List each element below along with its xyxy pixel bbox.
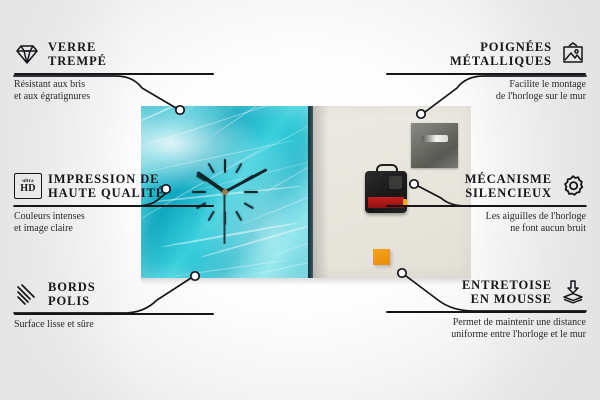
- callout-subtitle: Surface lisse et sûre: [14, 319, 214, 331]
- foam-spacer: [373, 249, 390, 265]
- panel-shadow: [313, 106, 329, 278]
- callout-title: ENTRETOISEEN MOUSSE: [462, 278, 552, 306]
- clock-second-hand: [224, 192, 226, 244]
- callout-subtitle: Les aiguilles de l'horlogene font aucun …: [386, 211, 586, 236]
- callout-impression: ultra HD IMPRESSION DEHAUTE QUALITÉ Coul…: [14, 172, 214, 235]
- callout-header: ENTRETOISEEN MOUSSE: [386, 278, 586, 306]
- callout-rule: [386, 73, 586, 75]
- callout-poignees: POIGNÉESMÉTALLIQUES Facilite le montaged…: [386, 40, 586, 103]
- callout-header: MÉCANISMESILENCIEUX: [386, 172, 586, 200]
- callout-entretoise: ENTRETOISEEN MOUSSE Permet de maintenir …: [386, 278, 586, 341]
- callout-rule: [14, 313, 214, 315]
- callout-header: VERRETREMPÉ: [14, 40, 214, 68]
- callout-header: BORDSPOLIS: [14, 280, 214, 308]
- callout-subtitle: Facilite le montagede l'horloge sur le m…: [386, 79, 586, 104]
- polished-edges-icon: [14, 281, 40, 307]
- callout-header: ultra HD IMPRESSION DEHAUTE QUALITÉ: [14, 172, 214, 200]
- callout-title: BORDSPOLIS: [48, 280, 96, 308]
- callout-subtitle: Couleurs intenseset image claire: [14, 211, 214, 236]
- clock-center-pin: [222, 189, 228, 195]
- callout-rule: [14, 73, 214, 75]
- callout-mecanisme: MÉCANISMESILENCIEUX Les aiguilles de l'h…: [386, 172, 586, 235]
- callout-title: VERRETREMPÉ: [48, 40, 107, 68]
- callout-title: IMPRESSION DEHAUTE QUALITÉ: [48, 172, 165, 200]
- metal-hanger-plate: [411, 123, 458, 168]
- callout-header: POIGNÉESMÉTALLIQUES: [386, 40, 586, 68]
- callout-subtitle: Permet de maintenir une distanceuniforme…: [386, 317, 586, 342]
- callout-rule: [386, 205, 586, 207]
- callout-subtitle: Résistant aux briset aux égratignures: [14, 79, 214, 104]
- hanger-slot: [422, 135, 448, 142]
- callout-title: MÉCANISMESILENCIEUX: [465, 172, 552, 200]
- callout-verre-trempe: VERRETREMPÉ Résistant aux briset aux égr…: [14, 40, 214, 103]
- diamond-icon: [14, 41, 40, 67]
- press-down-layers-icon: [560, 279, 586, 305]
- callout-bords-polis: BORDSPOLIS Surface lisse et sûre: [14, 280, 214, 331]
- callout-rule: [386, 311, 586, 313]
- gear-icon: [560, 173, 586, 199]
- callout-title: POIGNÉESMÉTALLIQUES: [450, 40, 552, 68]
- framed-picture-icon: [560, 41, 586, 67]
- hd-badge-main: HD: [20, 184, 36, 194]
- infographic-canvas: VERRETREMPÉ Résistant aux briset aux égr…: [0, 0, 600, 400]
- ultra-hd-icon: ultra HD: [14, 173, 40, 199]
- callout-rule: [14, 205, 214, 207]
